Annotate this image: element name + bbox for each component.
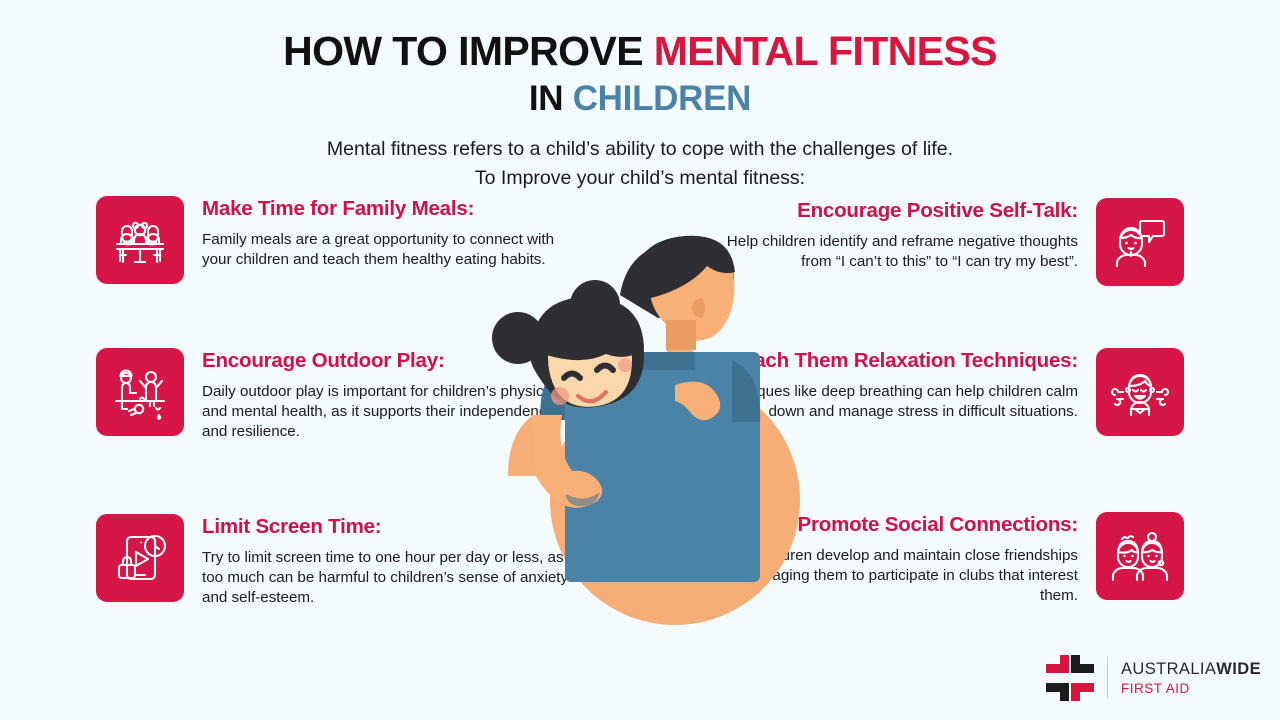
title-line2-blue: CHILDREN — [573, 79, 751, 118]
title-line2-black: IN — [529, 79, 573, 118]
outdoor-play-icon — [96, 348, 184, 436]
self-talk-icon — [1096, 198, 1184, 286]
family-meal-icon — [96, 196, 184, 284]
screen-time-limit-icon — [96, 514, 184, 602]
logo-line-1: AUSTRALIAWIDE — [1121, 661, 1261, 678]
australia-wide-first-aid-logo: AUSTRALIAWIDE FIRST AID — [1044, 652, 1261, 704]
logo-line-2: FIRST AID — [1121, 682, 1261, 696]
social-connections-icon — [1096, 512, 1184, 600]
title-line-2: IN CHILDREN — [0, 76, 1280, 122]
relaxation-breathing-icon — [1096, 348, 1184, 436]
page-title: HOW TO IMPROVE MENTAL FITNESS IN CHILDRE… — [0, 26, 1280, 122]
title-line1-black: HOW TO IMPROVE — [283, 28, 654, 74]
infographic-page: HOW TO IMPROVE MENTAL FITNESS IN CHILDRE… — [0, 0, 1280, 720]
page-subtitle: Mental fitness refers to a child’s abili… — [320, 135, 960, 193]
father-hugging-daughter-illustration — [470, 210, 830, 630]
title-line-1: HOW TO IMPROVE MENTAL FITNESS — [0, 26, 1280, 76]
logo-divider — [1107, 657, 1108, 699]
logo-wide: WIDE — [1216, 660, 1261, 678]
australia-wide-cross-logo — [1044, 652, 1096, 704]
logo-wordmark: AUSTRALIAWIDE FIRST AID — [1121, 661, 1261, 695]
title-line1-red: MENTAL FITNESS — [654, 28, 997, 74]
logo-australia: AUSTRALIA — [1121, 660, 1216, 678]
